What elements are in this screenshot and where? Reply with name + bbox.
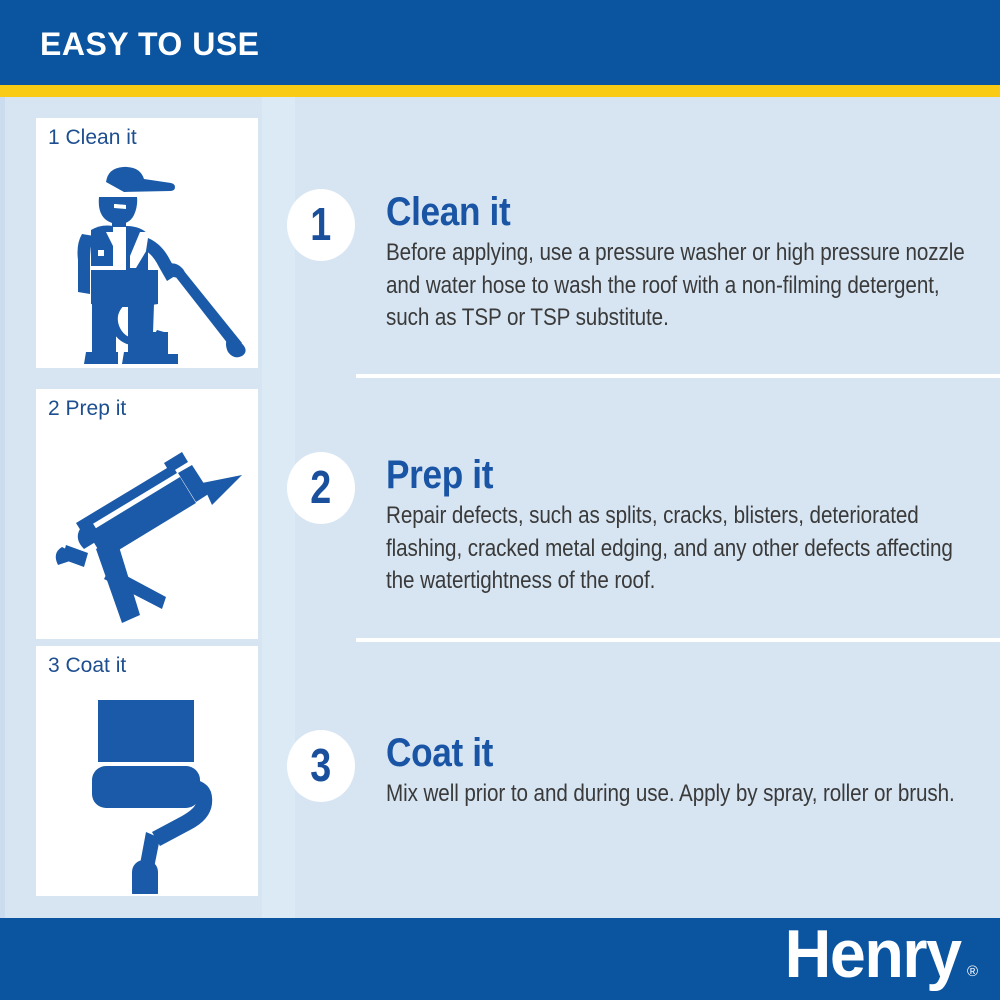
step-number-badge: 2 [287, 452, 355, 524]
step-title: Clean it [386, 191, 914, 233]
divider-2 [356, 638, 1000, 642]
caulk-gun-icon [36, 425, 258, 637]
icon-card-label: 2 Prep it [48, 397, 126, 421]
icon-card-label: 1 Clean it [48, 126, 137, 150]
header-bar: EASY TO USE [0, 0, 1000, 85]
icon-card-label: 3 Coat it [48, 654, 126, 678]
step-description: Before applying, use a pressure washer o… [386, 237, 979, 333]
page-title: EASY TO USE [40, 26, 260, 63]
step-title: Coat it [386, 732, 914, 774]
step-content: Prep it Repair defects, such as splits, … [386, 454, 986, 597]
step-title: Prep it [386, 454, 914, 496]
step-description: Repair defects, such as splits, cracks, … [386, 500, 979, 596]
step-number: 2 [311, 464, 332, 510]
icon-card-prep: 2 Prep it [36, 389, 258, 639]
step-content: Coat it Mix well prior to and during use… [386, 732, 986, 811]
step-description: Mix well prior to and during use. Apply … [386, 778, 979, 810]
step-content: Clean it Before applying, use a pressure… [386, 191, 986, 334]
step-number-badge: 3 [287, 730, 355, 802]
henry-logo-wordmark: Henry [784, 920, 960, 988]
paint-roller-icon [36, 682, 258, 894]
left-edge-strip [0, 97, 5, 918]
icon-card-coat: 3 Coat it [36, 646, 258, 896]
step-number: 1 [311, 201, 332, 247]
accent-rule [0, 85, 1000, 97]
infographic-page: EASY TO USE 1 Clean it [0, 0, 1000, 1000]
registered-trademark-icon: ® [967, 963, 978, 980]
icon-card-clean: 1 Clean it [36, 118, 258, 368]
divider-1 [356, 374, 1000, 378]
henry-logo: Henry ® [780, 920, 976, 988]
step-number-badge: 1 [287, 189, 355, 261]
step-number: 3 [311, 742, 332, 788]
pressure-washer-worker-icon [36, 154, 258, 366]
footer-bar: Henry ® [0, 918, 1000, 1000]
